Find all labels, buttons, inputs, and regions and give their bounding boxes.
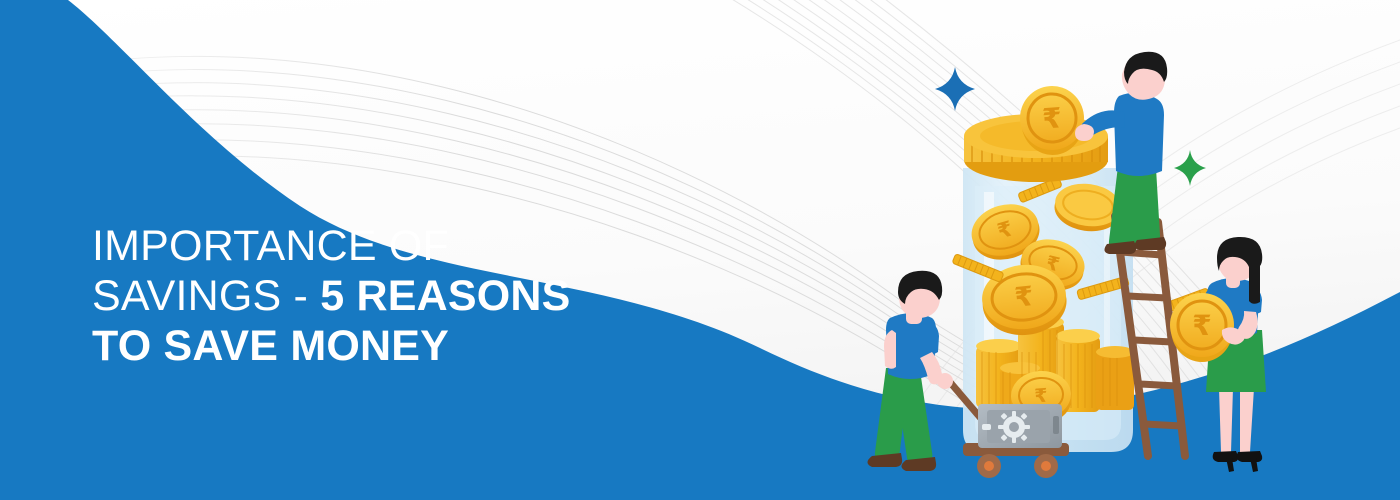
cart-wheel xyxy=(977,454,1058,478)
headline-line-3: TO SAVE MONEY xyxy=(92,322,712,372)
headline-line-2: SAVINGS - 5 REASONS xyxy=(92,272,712,322)
headline-line-1: IMPORTANCE OF xyxy=(92,222,712,272)
savings-banner: ₹ ₹ ₹ xyxy=(0,0,1400,500)
svg-text:₹: ₹ xyxy=(1013,281,1035,314)
svg-text:₹: ₹ xyxy=(1041,101,1063,135)
safe-box xyxy=(978,404,1062,448)
page-title: IMPORTANCE OF SAVINGS - 5 REASONS TO SAV… xyxy=(92,222,712,372)
sparkle-green-icon xyxy=(1174,150,1206,186)
sparkle-blue-icon xyxy=(935,67,975,111)
woman-rupee-coin: ₹ xyxy=(1170,293,1234,362)
headline-line-2-bold: 5 REASONS xyxy=(320,272,570,320)
man-pulling-cart xyxy=(868,271,954,471)
headline-line-2-light: SAVINGS - xyxy=(92,272,320,320)
safe-dial-icon xyxy=(998,411,1030,443)
svg-text:₹: ₹ xyxy=(1192,309,1211,342)
